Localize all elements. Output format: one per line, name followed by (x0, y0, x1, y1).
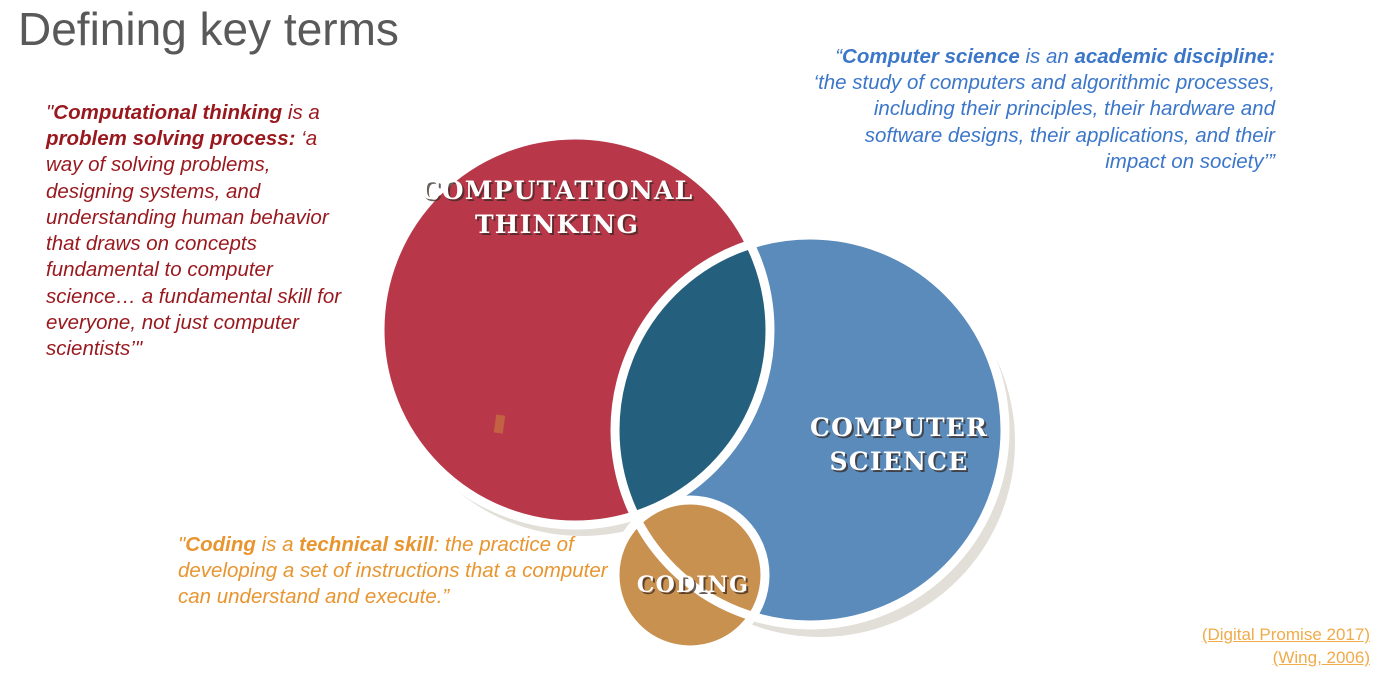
citation-link-digital-promise[interactable]: (Digital Promise 2017) (1202, 624, 1370, 647)
quote-computational-thinking: "Computational thinking is a problem sol… (46, 100, 346, 362)
label-coding: CODING CODING (637, 572, 751, 600)
slide-canvas: Defining key terms (0, 0, 1384, 676)
quote-coding: "Coding is a technical skill: the practi… (178, 532, 608, 611)
quote-ct-category: problem solving process: (46, 127, 295, 150)
quote-cs-openquote: “ (835, 45, 842, 68)
quote-ct-connector: is a (282, 101, 320, 124)
page-title: Defining key terms (18, 2, 399, 56)
quote-coding-connector: is a (256, 533, 299, 556)
label-ct-line2: THINKING (475, 210, 639, 239)
quote-cs-connector: is an (1020, 45, 1075, 68)
quote-coding-category: technical skill (299, 533, 433, 556)
quote-cs-category: academic discipline: (1074, 45, 1275, 68)
citations: (Digital Promise 2017) (Wing, 2006) (1202, 624, 1370, 670)
quote-coding-term: Coding (185, 533, 256, 556)
quote-ct-body: ‘a way of solving problems, designing sy… (46, 127, 341, 360)
quote-ct-term: Computational thinking (53, 101, 282, 124)
label-ct-line1: COMPUTATIONAL (421, 176, 694, 205)
quote-cs-body: ‘the study of computers and algorithmic … (814, 71, 1275, 173)
citation-link-wing[interactable]: (Wing, 2006) (1202, 647, 1370, 670)
label-cs-line2: SCIENCE (830, 447, 969, 476)
label-cs-line1: COMPUTER (810, 413, 988, 442)
quote-computer-science: “Computer science is an academic discipl… (800, 44, 1275, 175)
quote-cs-term: Computer science (842, 45, 1020, 68)
label-coding-text: CODING (637, 572, 749, 598)
